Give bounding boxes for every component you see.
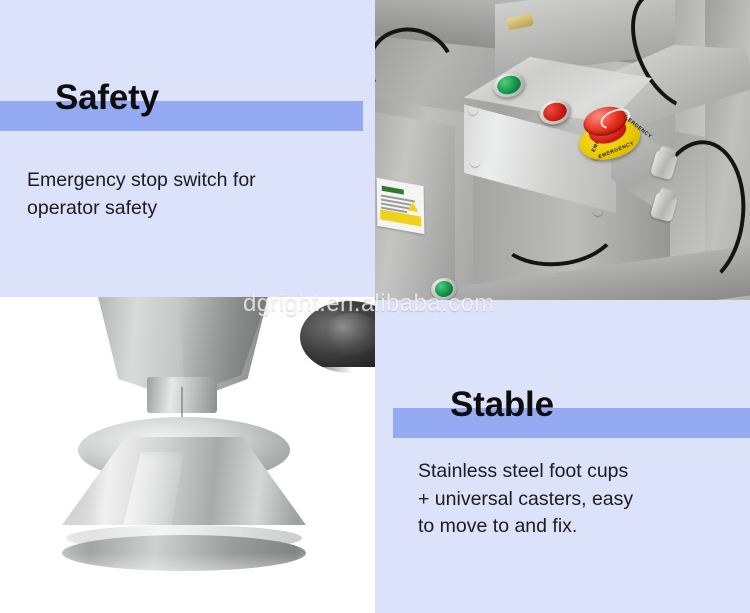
photo-fade-bottom	[0, 553, 375, 613]
caster-hub	[324, 313, 375, 355]
foot-cup-scene	[0, 297, 375, 613]
stable-heading-bar	[393, 408, 750, 438]
warning-label-green-bar	[382, 186, 404, 195]
feature-panel-stable: Stable Stainless steel foot cups + unive…	[375, 300, 750, 613]
photo-foot-cup	[0, 297, 375, 613]
safety-description: Emergency stop switch for operator safet…	[27, 167, 357, 222]
enclosure-bolt	[593, 206, 603, 216]
green-button-cap	[495, 73, 523, 97]
control-enclosure: EMERGENCY EMERGENCY EMERGENCY	[464, 57, 652, 232]
warning-label-sticker	[377, 178, 425, 234]
safety-heading: Safety	[55, 80, 159, 115]
control-box-scene: EMERGENCY EMERGENCY EMERGENCY	[375, 0, 750, 300]
warning-triangle-icon	[408, 201, 418, 212]
stable-heading: Stable	[450, 387, 554, 422]
feature-collage: EMERGENCY EMERGENCY EMERGENCY	[0, 0, 750, 613]
photo-control-box: EMERGENCY EMERGENCY EMERGENCY	[375, 0, 750, 300]
stable-description: Stainless steel foot cups + universal ca…	[418, 458, 738, 541]
enclosure-bolt	[470, 157, 480, 167]
warning-label-yellow-band	[380, 209, 421, 226]
enclosure-bolt	[468, 105, 478, 115]
lower-green-indicator-cap	[434, 280, 455, 299]
feature-panel-safety: Safety Emergency stop switch for operato…	[0, 0, 375, 297]
red-button-cap	[541, 100, 569, 124]
